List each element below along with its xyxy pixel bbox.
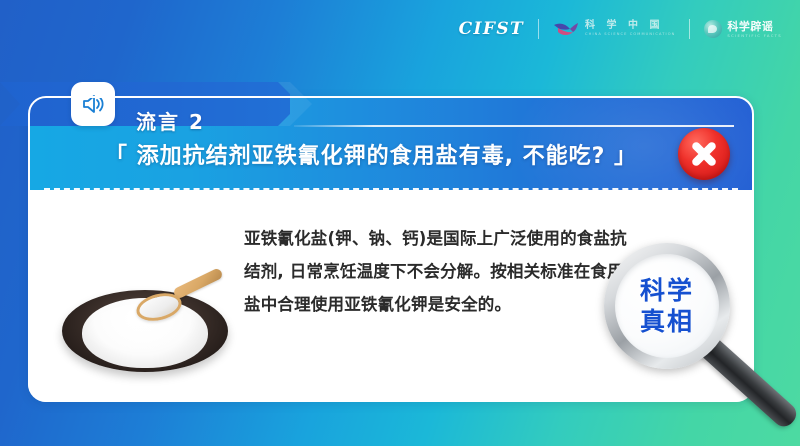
ribbon-hairline <box>294 125 734 127</box>
card-dashed-divider <box>44 188 738 190</box>
science-china-en: CHINA SCIENCE COMMUNICATION <box>585 33 675 37</box>
rumor-headline: 「 添加抗结剂亚铁氰化钾的食用盐有毒, 不能吃? 」 <box>28 138 754 170</box>
cross-mark-icon <box>678 128 730 180</box>
magnifier-badge: 科学 真相 <box>604 243 800 423</box>
spoon-handle <box>172 267 224 300</box>
speaker-icon <box>71 82 115 126</box>
science-china-logo: 科 学 中 国 CHINA SCIENCE COMMUNICATION <box>553 21 675 38</box>
rumor-logo: 科学辟谣 SCIENTIFIC FACTS <box>704 20 782 38</box>
brand-divider-2 <box>689 19 690 39</box>
magnifier-glass: 科学 真相 <box>615 254 719 358</box>
rumor-logo-text: 科学辟谣 SCIENTIFIC FACTS <box>727 21 782 38</box>
salt-bowl-photo <box>62 272 228 384</box>
rumor-logo-en: SCIENTIFIC FACTS <box>727 34 782 38</box>
orb-icon <box>704 20 722 38</box>
science-china-cn: 科 学 中 国 <box>585 21 675 31</box>
science-china-text: 科 学 中 国 CHINA SCIENCE COMMUNICATION <box>585 21 675 37</box>
cifst-logo: CIFST <box>459 19 524 39</box>
magnifier-line-1: 科学 <box>640 275 694 306</box>
rumor-logo-cn: 科学辟谣 <box>727 21 782 32</box>
brand-divider-1 <box>538 19 539 39</box>
poster-canvas: CIFST 科 学 中 国 CHINA SCIENCE COMMUNICATIO… <box>0 0 800 446</box>
rumor-body-text: 亚铁氰化盐(钾、钠、钙)是国际上广泛使用的食盐抗结剂, 日常烹饪温度下不会分解。… <box>244 222 628 321</box>
ribbon-label: 流言 2 <box>136 106 205 135</box>
magnifier-line-2: 真相 <box>640 306 694 337</box>
bird-mark-icon <box>553 21 579 38</box>
brand-bar: CIFST 科 学 中 国 CHINA SCIENCE COMMUNICATIO… <box>0 0 800 58</box>
